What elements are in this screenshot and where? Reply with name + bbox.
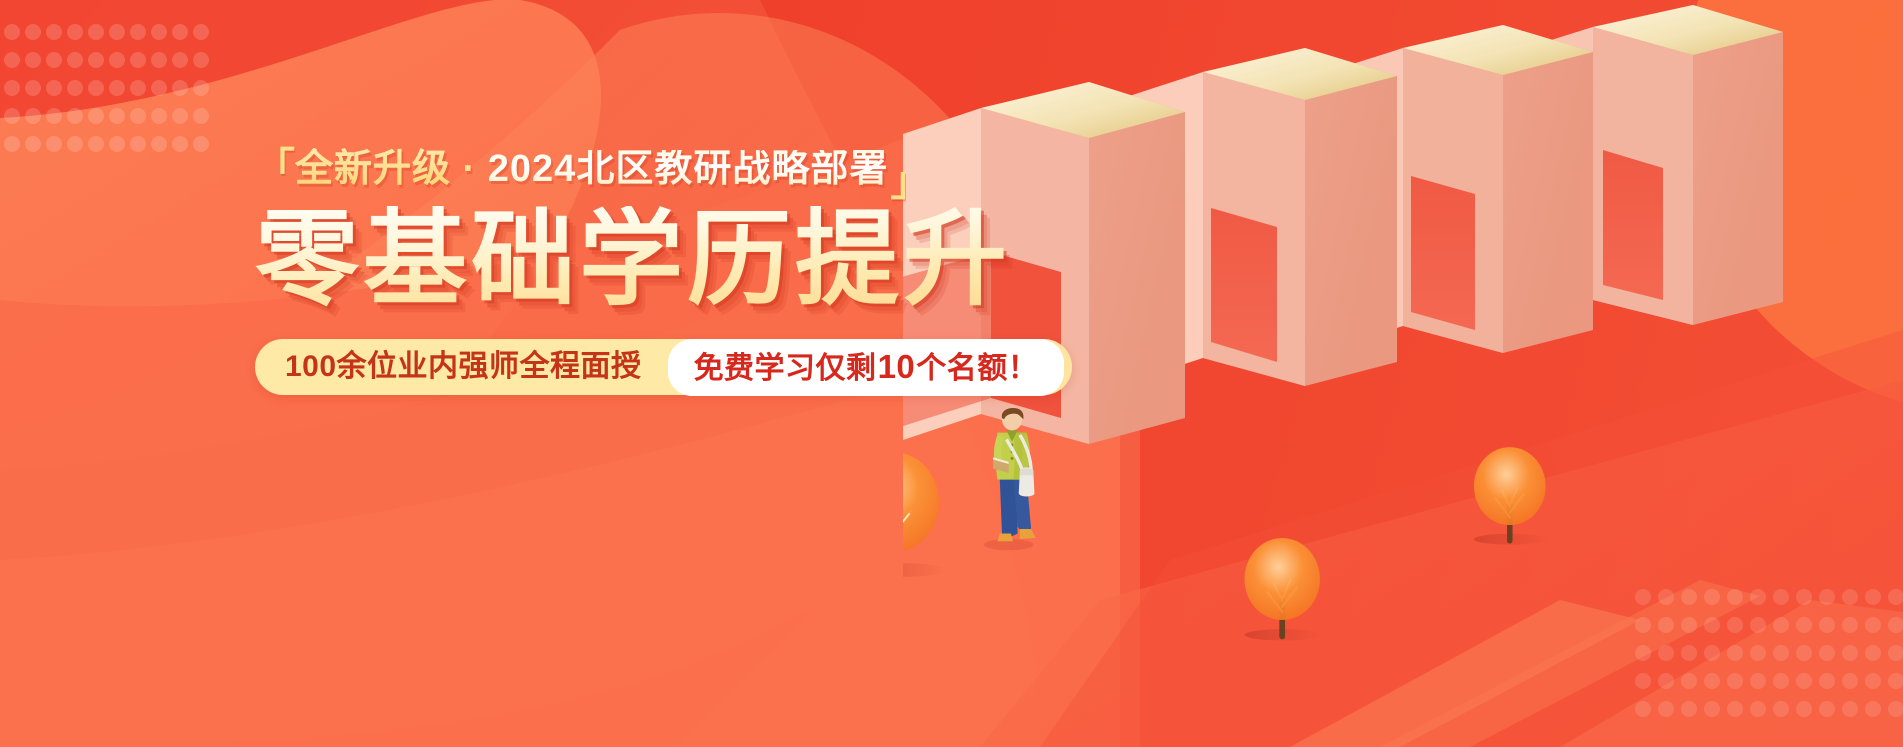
pill-badge-number: 10 <box>877 348 917 385</box>
pill-badge-suffix: 个名额！ <box>916 352 1038 385</box>
promo-banner: 「 全新升级 · 2024北区教研战略部署 」 零基础学历提升学霸班 100余位… <box>0 0 1903 747</box>
subtitle-text: 全新升级 · 2024北区教研战略部署 <box>295 150 888 188</box>
highlight-pill-row: 100余位业内强师全程面授 免费学习仅剩10个名额！ <box>255 339 1072 395</box>
pill-badge-prefix: 免费学习仅剩 <box>694 352 877 385</box>
dot-grid-bottom-right <box>1633 587 1903 739</box>
pill-label-instructors: 100余位业内强师全程面授 <box>255 352 668 382</box>
dot-grid-top-left <box>2 22 212 172</box>
page-title: 零基础学历提升学霸班 <box>255 206 1015 315</box>
banner-subtitle: 「 全新升级 · 2024北区教研战略部署 」 <box>255 148 1015 202</box>
banner-copy: 「 全新升级 · 2024北区教研战略部署 」 零基础学历提升学霸班 100余位… <box>255 148 1015 395</box>
subtitle-text-part2: 2024北区教研战略部署 <box>488 148 889 190</box>
pill-badge-seats[interactable]: 免费学习仅剩10个名额！ <box>668 339 1065 396</box>
bracket-close-icon: 」 <box>890 162 928 202</box>
bracket-open-icon: 「 <box>255 148 293 188</box>
subtitle-text-part1: 全新升级 · <box>295 148 488 190</box>
